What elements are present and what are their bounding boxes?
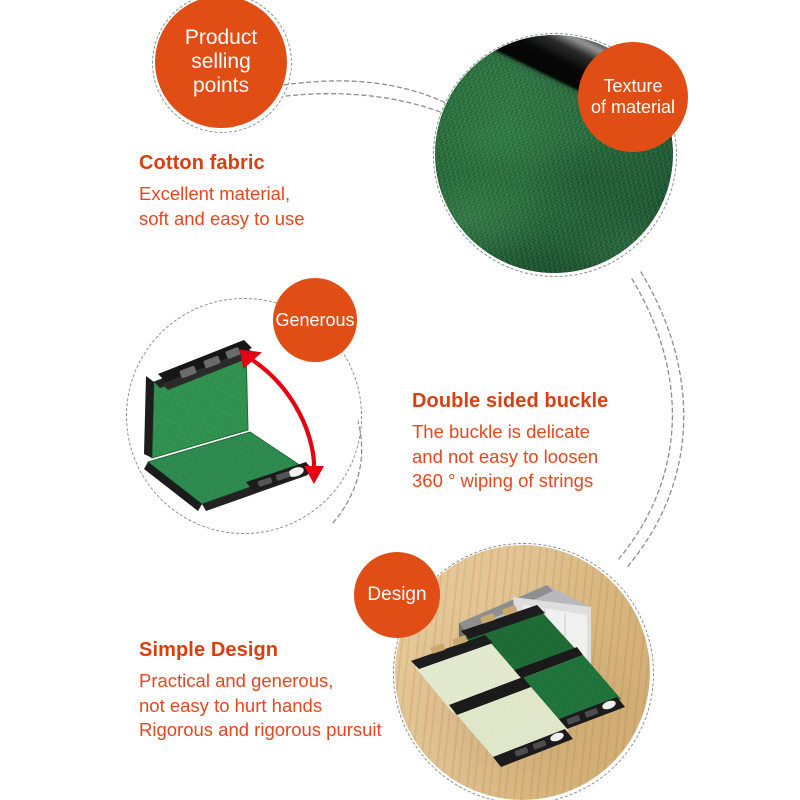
badge-texture-of-material[interactable]: Texture of material [578, 42, 688, 152]
infographic-canvas: Les Miserables [0, 0, 800, 800]
feature-line: The buckle is delicate [412, 420, 608, 445]
badge-product-selling-points[interactable]: Product selling points [155, 0, 287, 128]
feature-title: Cotton fabric [139, 152, 305, 175]
badge-line: Texture [591, 76, 675, 97]
feature-title: Simple Design [139, 639, 382, 662]
badge-line: Product [163, 26, 279, 50]
feature-line: soft and easy to use [139, 207, 305, 232]
feature-line: Rigorous and rigorous pursuit [139, 718, 382, 743]
badge-line: Design [367, 584, 426, 606]
badge-design[interactable]: Design [354, 552, 440, 638]
badge-line: of material [591, 97, 675, 118]
badge-line: selling points [163, 50, 279, 98]
badge-generous[interactable]: Generous [273, 278, 357, 362]
connector-texture-to-product-outer [628, 272, 684, 566]
feature-line: and not easy to loosen [412, 445, 608, 470]
feature-double-sided-buckle: Double sided buckle The buckle is delica… [412, 390, 608, 494]
feature-line: not easy to hurt hands [139, 694, 382, 719]
feature-line: Practical and generous, [139, 669, 382, 694]
connector-texture-to-product-inner [618, 279, 672, 560]
feature-title: Double sided buckle [412, 390, 608, 413]
feature-simple-design: Simple Design Practical and generous, no… [139, 639, 382, 743]
badge-line: Generous [275, 310, 354, 331]
feature-line: 360 ° wiping of strings [412, 469, 608, 494]
feature-line: Excellent material, [139, 182, 305, 207]
feature-cotton-fabric: Cotton fabric Excellent material, soft a… [139, 152, 305, 231]
